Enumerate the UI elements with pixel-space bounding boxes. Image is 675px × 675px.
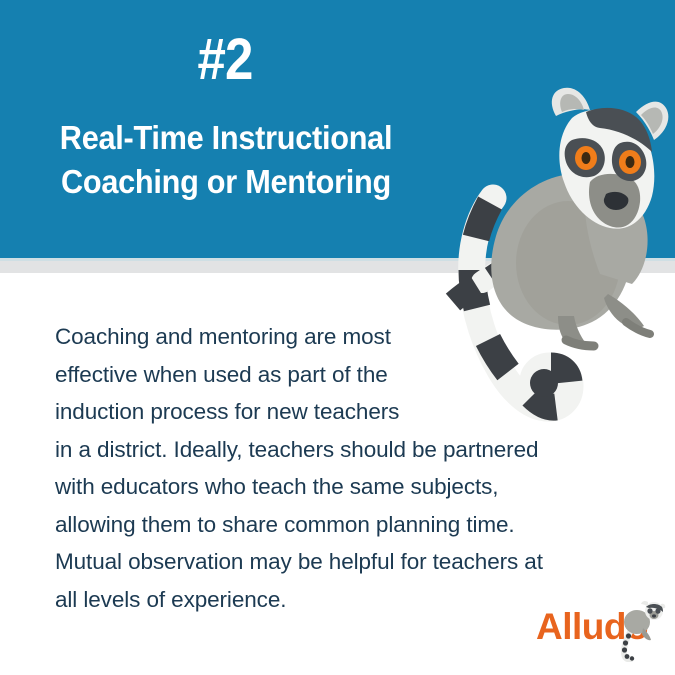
page-title: Real-Time Instructional Coaching or Ment…: [16, 116, 436, 204]
body-line-2: effective when used as part of the: [55, 356, 615, 394]
page-title-line-2: Coaching or Mentoring: [16, 160, 436, 204]
body-line-7: Mutual observation may be helpful for te…: [55, 543, 615, 581]
body-line-5: with educators who teach the same subjec…: [55, 468, 615, 506]
body-line-3: induction process for new teachers: [55, 393, 615, 431]
brand-logo[interactable]: Alludo: [536, 600, 666, 662]
infographic-card: #2 Real-Time Instructional Coaching or M…: [0, 0, 675, 675]
body-line-6: allowing them to share common planning t…: [55, 506, 615, 544]
lemur-mascot-icon: [612, 600, 666, 662]
body-line-4: in a district. Ideally, teachers should …: [55, 431, 615, 469]
header-gray-divider-band: [0, 261, 675, 273]
page-title-line-1: Real-Time Instructional: [16, 116, 436, 160]
body-line-8: all levels of experience.: [55, 581, 615, 619]
rank-number: #2: [27, 31, 423, 89]
body-line-1: Coaching and mentoring are most: [55, 318, 615, 356]
body-paragraph: Coaching and mentoring are most effectiv…: [55, 318, 615, 618]
